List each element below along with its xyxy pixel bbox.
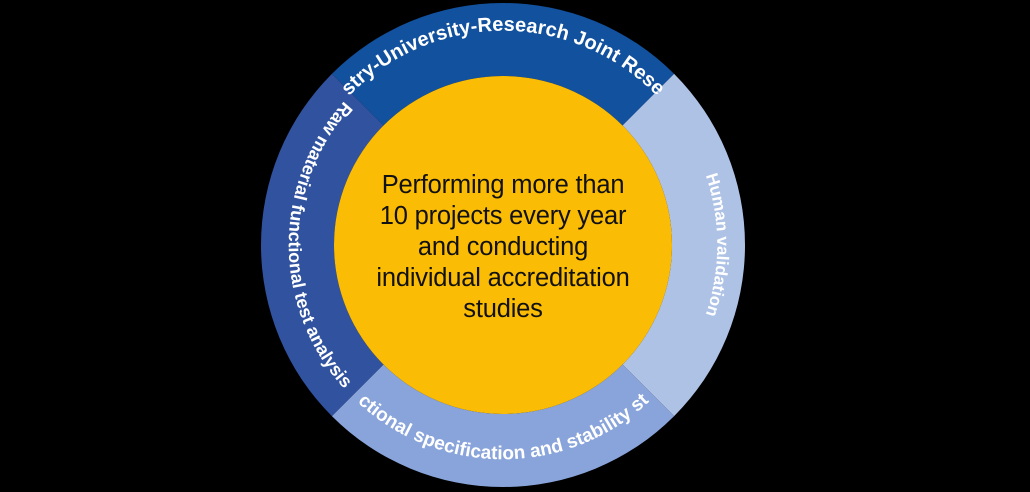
diagram-canvas: Industry-University-Research Joint Resea…: [0, 0, 1030, 492]
cycle-donut-chart: Industry-University-Research Joint Resea…: [0, 0, 1030, 492]
center-circle: [334, 76, 672, 414]
